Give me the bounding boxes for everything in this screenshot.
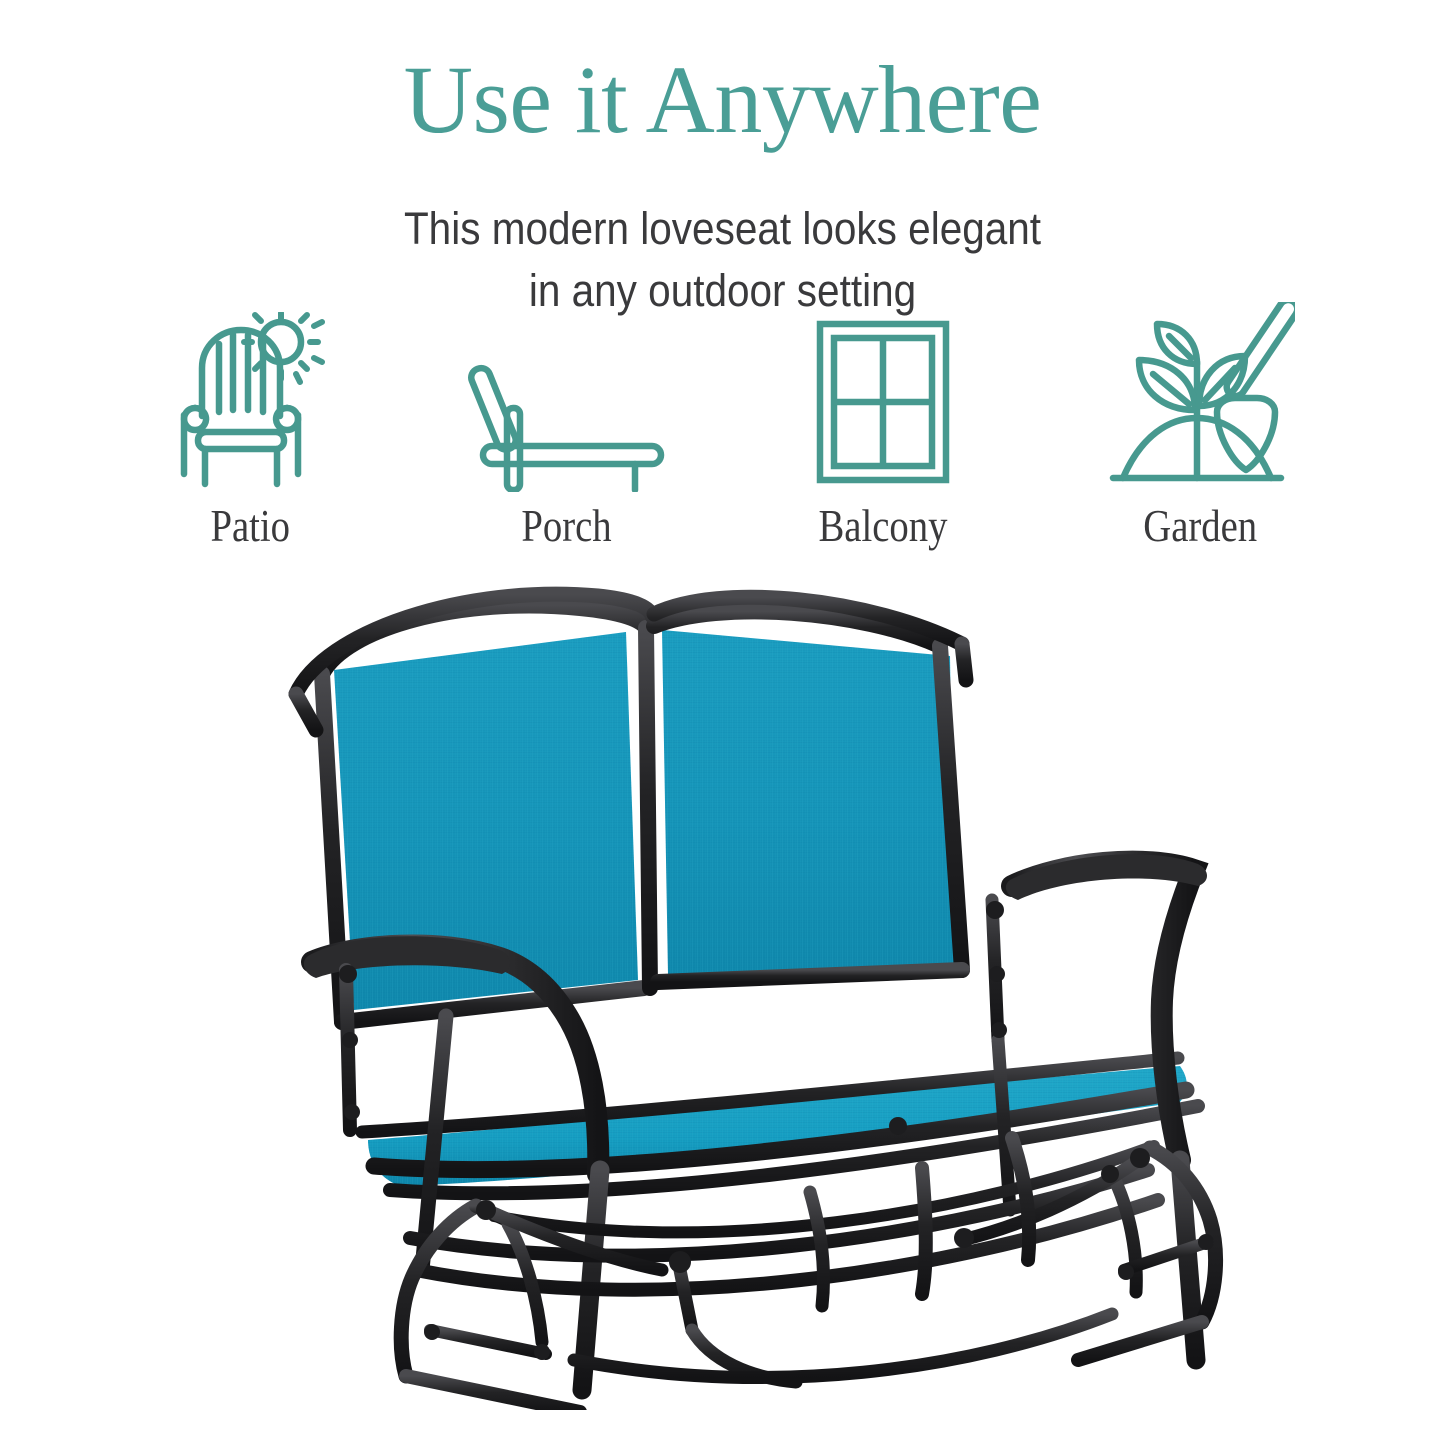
product-image <box>250 570 1260 1410</box>
use-case-label-garden: Garden <box>1143 504 1257 549</box>
use-case-list: Patio Porch <box>110 296 1340 566</box>
use-case-item-garden: Garden <box>1060 296 1340 549</box>
glider-loveseat-illustration <box>250 570 1260 1410</box>
use-case-item-patio: Patio <box>110 296 390 549</box>
use-case-label-patio: Patio <box>210 504 290 549</box>
product-marketing-image: Use it Anywhere This modern loveseat loo… <box>0 0 1445 1445</box>
use-case-label-balcony: Balcony <box>819 504 948 549</box>
page-subtitle-line-1: This modern loveseat looks elegant <box>72 198 1373 260</box>
page-title: Use it Anywhere <box>0 52 1445 148</box>
use-case-item-porch: Porch <box>427 296 707 549</box>
chaise-lounge-icon <box>467 296 667 492</box>
window-icon <box>808 296 958 492</box>
backrest-right-panel <box>662 630 954 974</box>
use-case-item-balcony: Balcony <box>743 296 1023 549</box>
use-case-label-porch: Porch <box>522 504 612 549</box>
adirondack-chair-sun-icon <box>175 296 325 492</box>
plant-shovel-icon <box>1105 296 1295 492</box>
